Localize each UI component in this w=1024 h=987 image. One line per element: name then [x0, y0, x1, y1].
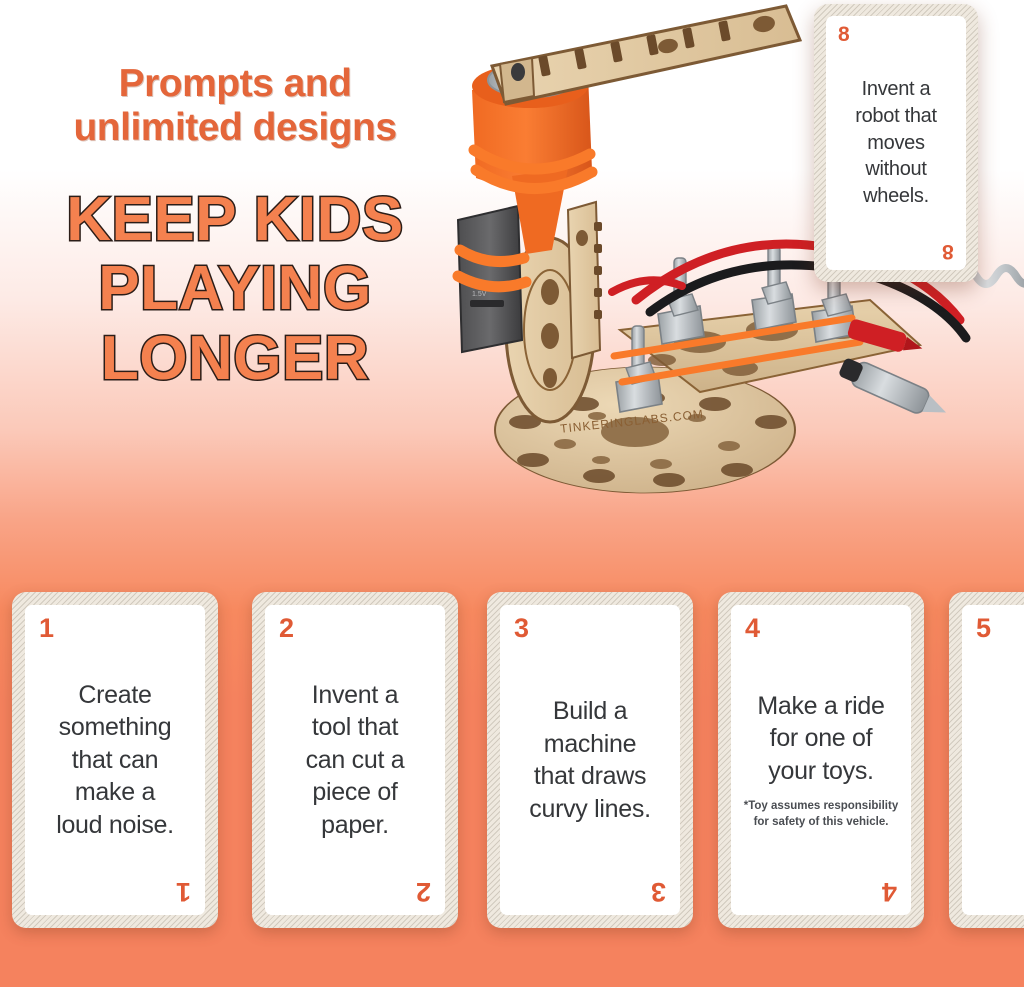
- card-number-top: 5: [976, 615, 991, 642]
- poster-canvas: Prompts and unlimited designs KEEP KIDS …: [0, 0, 1024, 987]
- wooden-arm: [492, 6, 800, 104]
- card-prompt-text: Invent a robot that moves without wheels…: [843, 76, 949, 210]
- card-inner: 1 Create something that can make a loud …: [25, 605, 205, 915]
- card-number-bottom: 8: [942, 241, 954, 262]
- notched-strut: [568, 202, 602, 358]
- prompt-card-2[interactable]: 2 Invent a tool that can cut a piece of …: [252, 592, 458, 928]
- prompt-card-5[interactable]: 5 C sor tha in a 5: [949, 592, 1024, 928]
- card-number-top: 3: [514, 615, 529, 642]
- card-number-top: 4: [745, 615, 760, 642]
- card-number-top: 1: [39, 615, 54, 642]
- prompt-card-4[interactable]: 4 Make a ride for one of your toys. *Toy…: [718, 592, 924, 928]
- card-inner: 8 Invent a robot that moves without whee…: [826, 16, 966, 270]
- prompt-card-3[interactable]: 3 Build a machine that draws curvy lines…: [487, 592, 693, 928]
- card-number-bottom: 3: [651, 878, 666, 905]
- card-number-top: 2: [279, 615, 294, 642]
- prompt-card-1[interactable]: 1 Create something that can make a loud …: [12, 592, 218, 928]
- card-prompt-text: Make a ride for one of your toys.: [745, 690, 896, 788]
- card-footnote: *Toy assumes responsibility for safety o…: [744, 799, 898, 830]
- card-inner: 5 C sor tha in a 5: [962, 605, 1024, 915]
- card-number-bottom: 4: [882, 878, 897, 905]
- card-prompt-text: Create something that can make a loud no…: [44, 679, 186, 842]
- card-prompt-text: Invent a tool that can cut a piece of pa…: [294, 679, 417, 842]
- card-prompt-text: C sor tha in a: [1020, 695, 1024, 825]
- card-number-top: 8: [838, 24, 850, 45]
- card-prompt-text: Build a machine that draws curvy lines.: [517, 695, 662, 825]
- floating-prompt-card[interactable]: 8 Invent a robot that moves without whee…: [814, 4, 978, 282]
- card-inner: 3 Build a machine that draws curvy lines…: [500, 605, 680, 915]
- card-number-bottom: 1: [176, 878, 191, 905]
- card-inner: 2 Invent a tool that can cut a piece of …: [265, 605, 445, 915]
- card-inner: 4 Make a ride for one of your toys. *Toy…: [731, 605, 911, 915]
- alligator-clips: [837, 318, 952, 424]
- card-number-bottom: 2: [416, 878, 431, 905]
- svg-text:1.5V: 1.5V: [472, 291, 487, 298]
